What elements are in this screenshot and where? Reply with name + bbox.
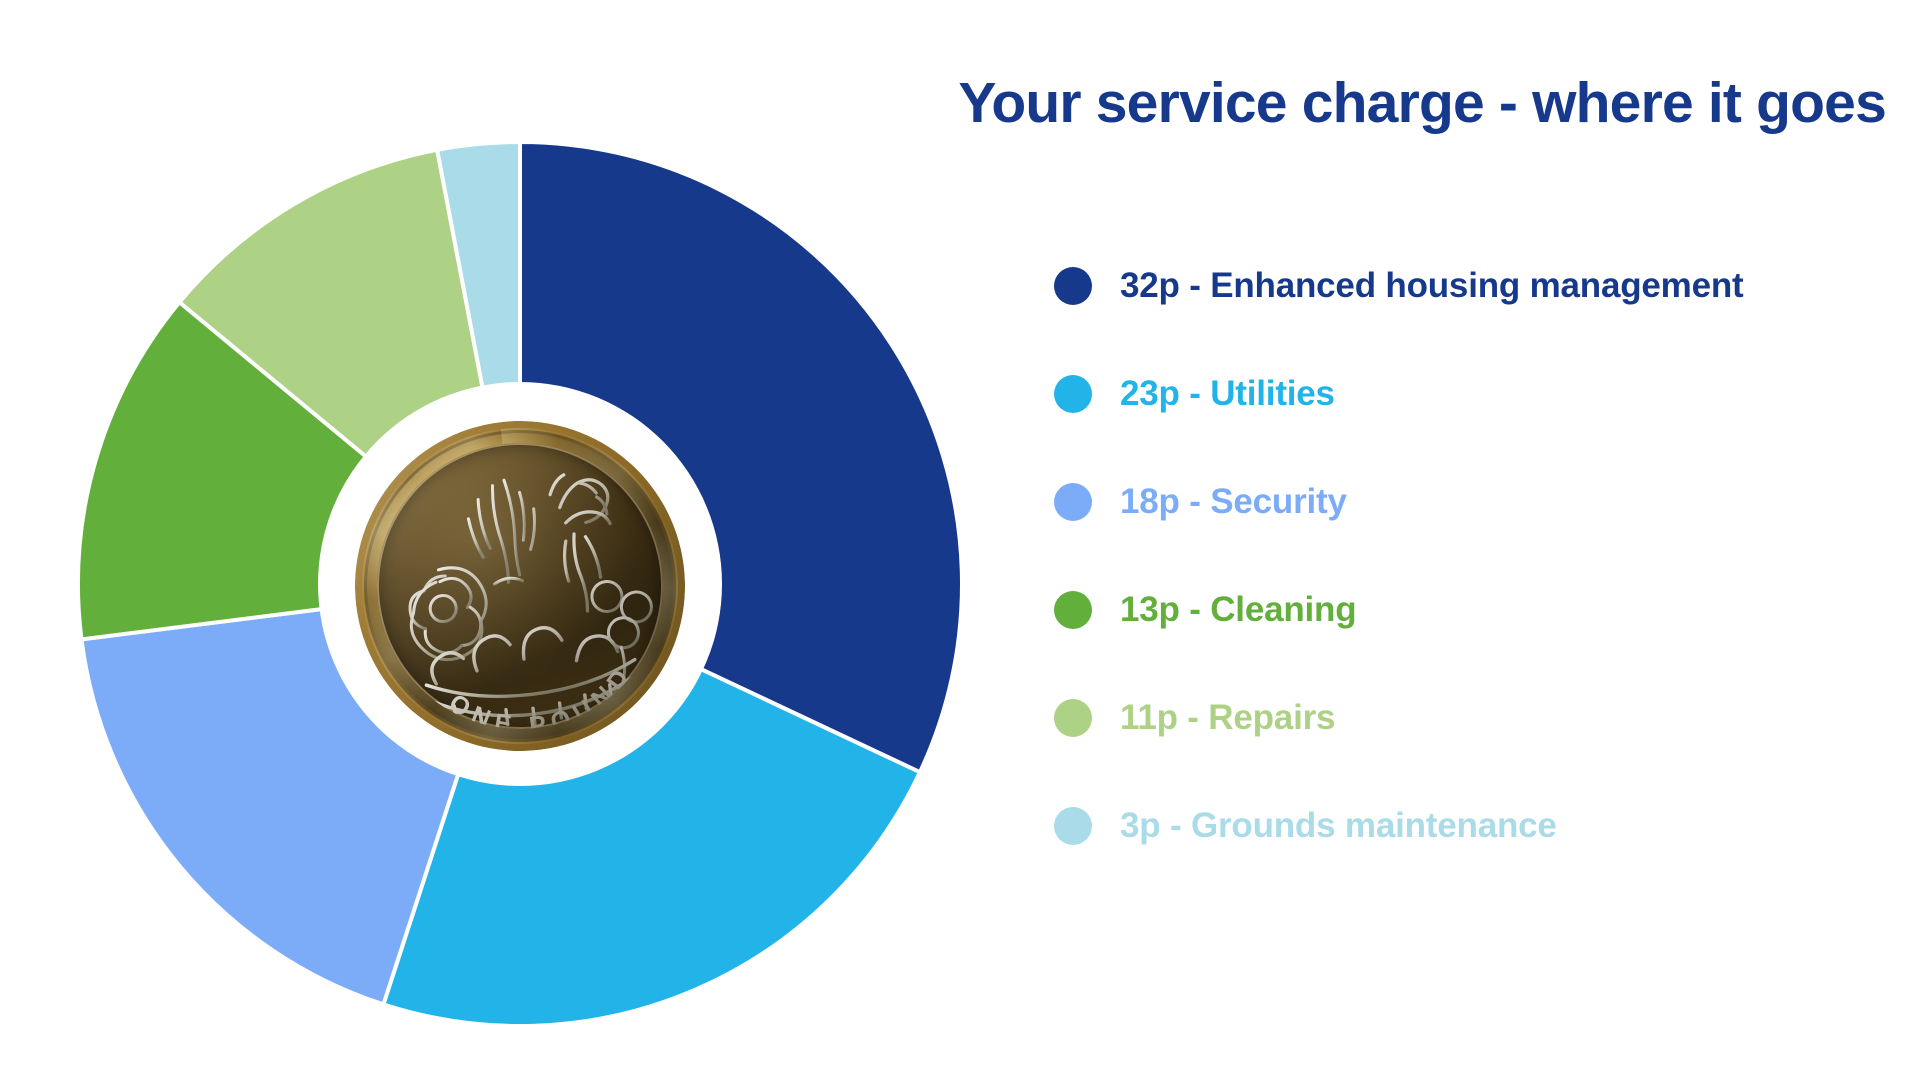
legend-color-swatch-icon [1054, 591, 1092, 629]
page-title: Your service charge - where it goes [766, 74, 1886, 134]
svg-text:ONE POUND: ONE POUND [440, 656, 645, 750]
infographic-page: Your service charge - where it goes [0, 0, 1920, 1080]
legend-item-label: 13p - Cleaning [1120, 590, 1356, 630]
legend-item-label: 18p - Security [1120, 482, 1347, 522]
legend-item[interactable]: 3p - Grounds maintenance [1054, 772, 1854, 880]
legend-item[interactable]: 32p - Enhanced housing management [1054, 232, 1854, 340]
coin-relief-artwork: ONE POUND [336, 402, 704, 770]
legend-item-label: 32p - Enhanced housing management [1120, 266, 1744, 306]
legend-item-label: 23p - Utilities [1120, 374, 1335, 414]
legend-item[interactable]: 23p - Utilities [1054, 340, 1854, 448]
legend-color-swatch-icon [1054, 375, 1092, 413]
one-pound-inscription: ONE POUND [408, 620, 657, 754]
coin-body: ONE POUND [336, 402, 704, 770]
legend-item-label: 3p - Grounds maintenance [1120, 806, 1557, 846]
legend-item[interactable]: 18p - Security [1054, 448, 1854, 556]
leek-motif [464, 477, 542, 586]
thistle-motif [548, 470, 621, 614]
denomination-mark [646, 655, 654, 676]
rose-motif [405, 564, 493, 664]
legend-item[interactable]: 11p - Repairs [1054, 664, 1854, 772]
chart-legend: 32p - Enhanced housing management23p - U… [1054, 232, 1854, 880]
donut-chart: ONE POUND [78, 142, 962, 1026]
legend-color-swatch-icon [1054, 483, 1092, 521]
legend-color-swatch-icon [1054, 807, 1092, 845]
legend-item-label: 11p - Repairs [1120, 698, 1335, 738]
one-pound-coin-image: ONE POUND [336, 402, 704, 770]
legend-color-swatch-icon [1054, 699, 1092, 737]
legend-color-swatch-icon [1054, 267, 1092, 305]
legend-item[interactable]: 13p - Cleaning [1054, 556, 1854, 664]
